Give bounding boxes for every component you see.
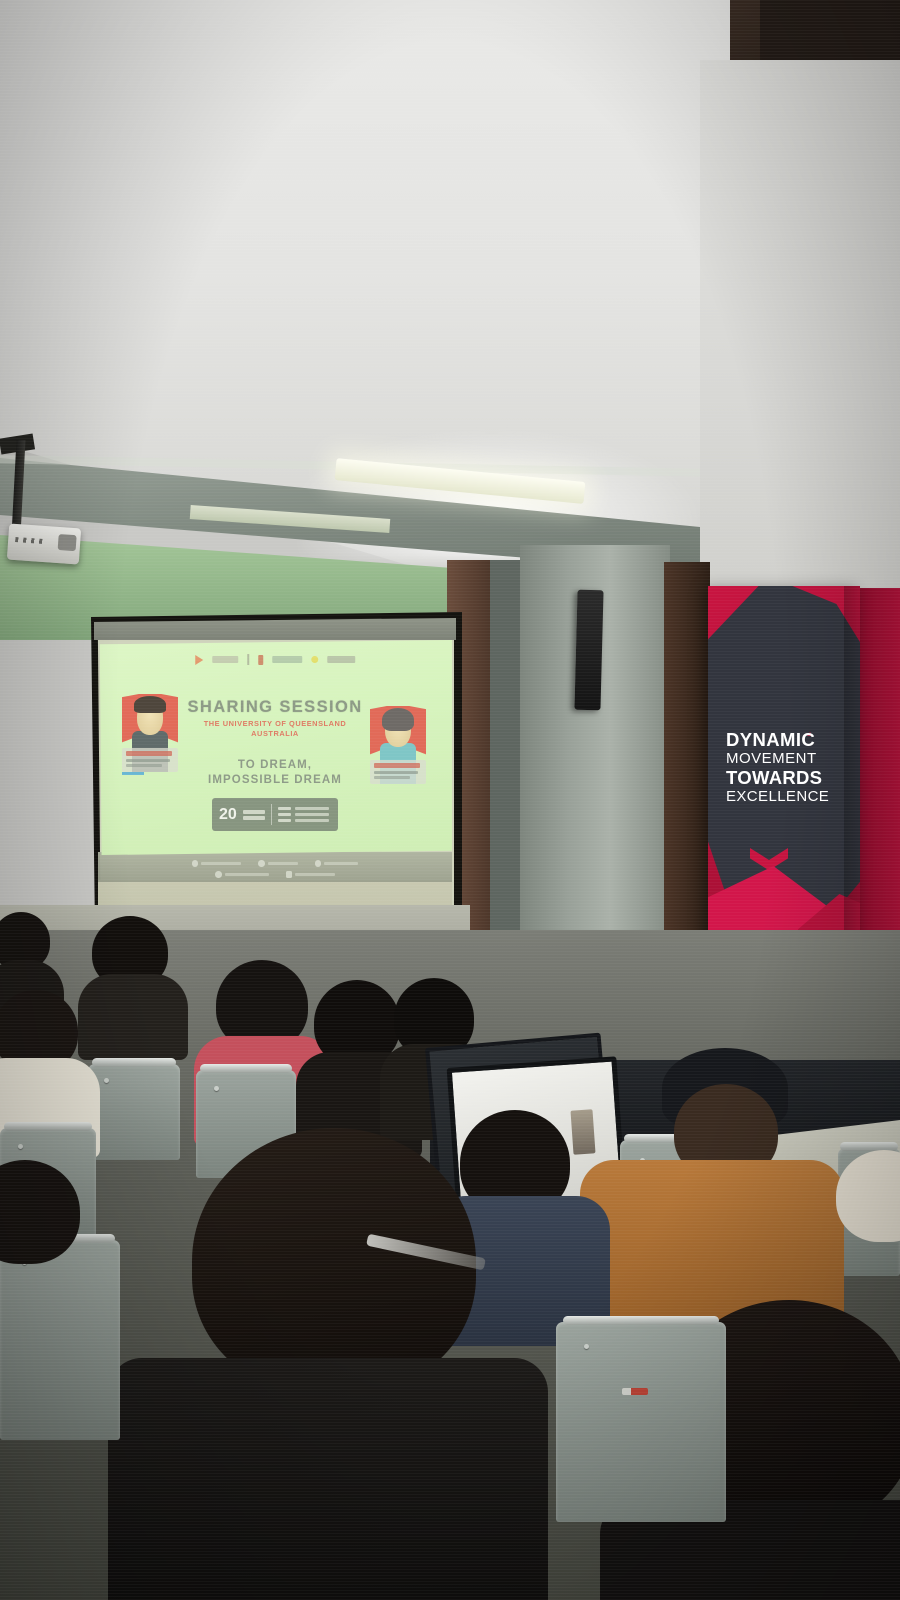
banner-line-3: TOWARDS: [726, 768, 829, 789]
audience-person-foreground: [168, 1128, 498, 1600]
standing-banner: DYNAMIC MOVEMENT TOWARDS EXCELLENCE: [708, 586, 860, 968]
person-head: [0, 1160, 80, 1264]
speaker-left-name: [126, 751, 172, 756]
shield-logo-icon: [258, 655, 263, 665]
banner-side-panel: [858, 588, 900, 966]
banner-text-block: DYNAMIC MOVEMENT TOWARDS EXCELLENCE: [726, 730, 829, 806]
audience-person-with-cap: [648, 1048, 806, 1258]
chair-brand-sticker: [622, 1388, 648, 1395]
logo-wordmark-3: [327, 656, 355, 663]
banner-line-1: DYNAMIC: [726, 730, 829, 751]
photo-canvas: DYNAMIC MOVEMENT TOWARDS EXCELLENCE: [0, 0, 900, 1600]
logo-wordmark-2: [272, 656, 302, 663]
slide-logo-row: [195, 654, 355, 665]
projector-icon: [7, 524, 81, 565]
audience-person: [0, 912, 60, 992]
audience-person: [0, 990, 94, 1130]
slide-footer-contacts: [98, 855, 452, 883]
person-torso: [108, 1358, 548, 1600]
door-frame-right: [664, 562, 710, 982]
wall-speaker-icon: [574, 590, 603, 711]
youtube-icon: [286, 871, 293, 878]
slide-date-divider: [271, 804, 272, 825]
person-head: [192, 1128, 476, 1394]
slide-title: SHARING SESSION: [98, 698, 452, 717]
instagram-icon: [215, 871, 222, 878]
slide-footer-row-1: [98, 860, 452, 867]
globe-icon: [192, 860, 199, 867]
person-head: [836, 1150, 900, 1242]
slide-footer-row-2: [98, 871, 452, 878]
audience-person: [86, 916, 182, 1036]
slide-subtitle: THE UNIVERSITY OF QUEENSLAND AUSTRALIA: [98, 719, 452, 739]
phone-icon: [258, 860, 265, 867]
right-wall: [700, 60, 900, 620]
slide-tagline-line2: IMPOSSIBLE DREAM: [98, 773, 452, 788]
slide-subtitle-line2: AUSTRALIA: [98, 729, 452, 739]
logo-wordmark-1: [212, 656, 238, 663]
person-torso: [78, 974, 188, 1060]
play-logo-icon: [195, 655, 203, 665]
audience-chair-foreground: [556, 1322, 726, 1522]
star-logo-icon: [311, 656, 318, 663]
slide-tagline: TO DREAM, IMPOSSIBLE DREAM: [98, 758, 452, 788]
audience-person: [0, 1160, 110, 1350]
slide-date-day: 20: [219, 807, 237, 823]
audience-person: [830, 1150, 900, 1320]
slide-subtitle-line1: THE UNIVERSITY OF QUEENSLAND: [98, 719, 452, 729]
banner-line-4: EXCELLENCE: [726, 789, 829, 806]
slide-event-details: [278, 807, 329, 823]
slide-tagline-line1: TO DREAM,: [98, 758, 452, 773]
logo-divider: [247, 654, 249, 665]
slide-date-month-year: [243, 810, 265, 820]
slide-date-box: 20: [212, 798, 338, 831]
audience-chair: [88, 1064, 180, 1160]
mail-icon: [315, 860, 322, 867]
banner-edge-shadow: [844, 586, 860, 968]
presentation-slide: SHARING SESSION THE UNIVERSITY OF QUEENS…: [98, 640, 452, 855]
banner-line-2: MOVEMENT: [726, 751, 829, 768]
